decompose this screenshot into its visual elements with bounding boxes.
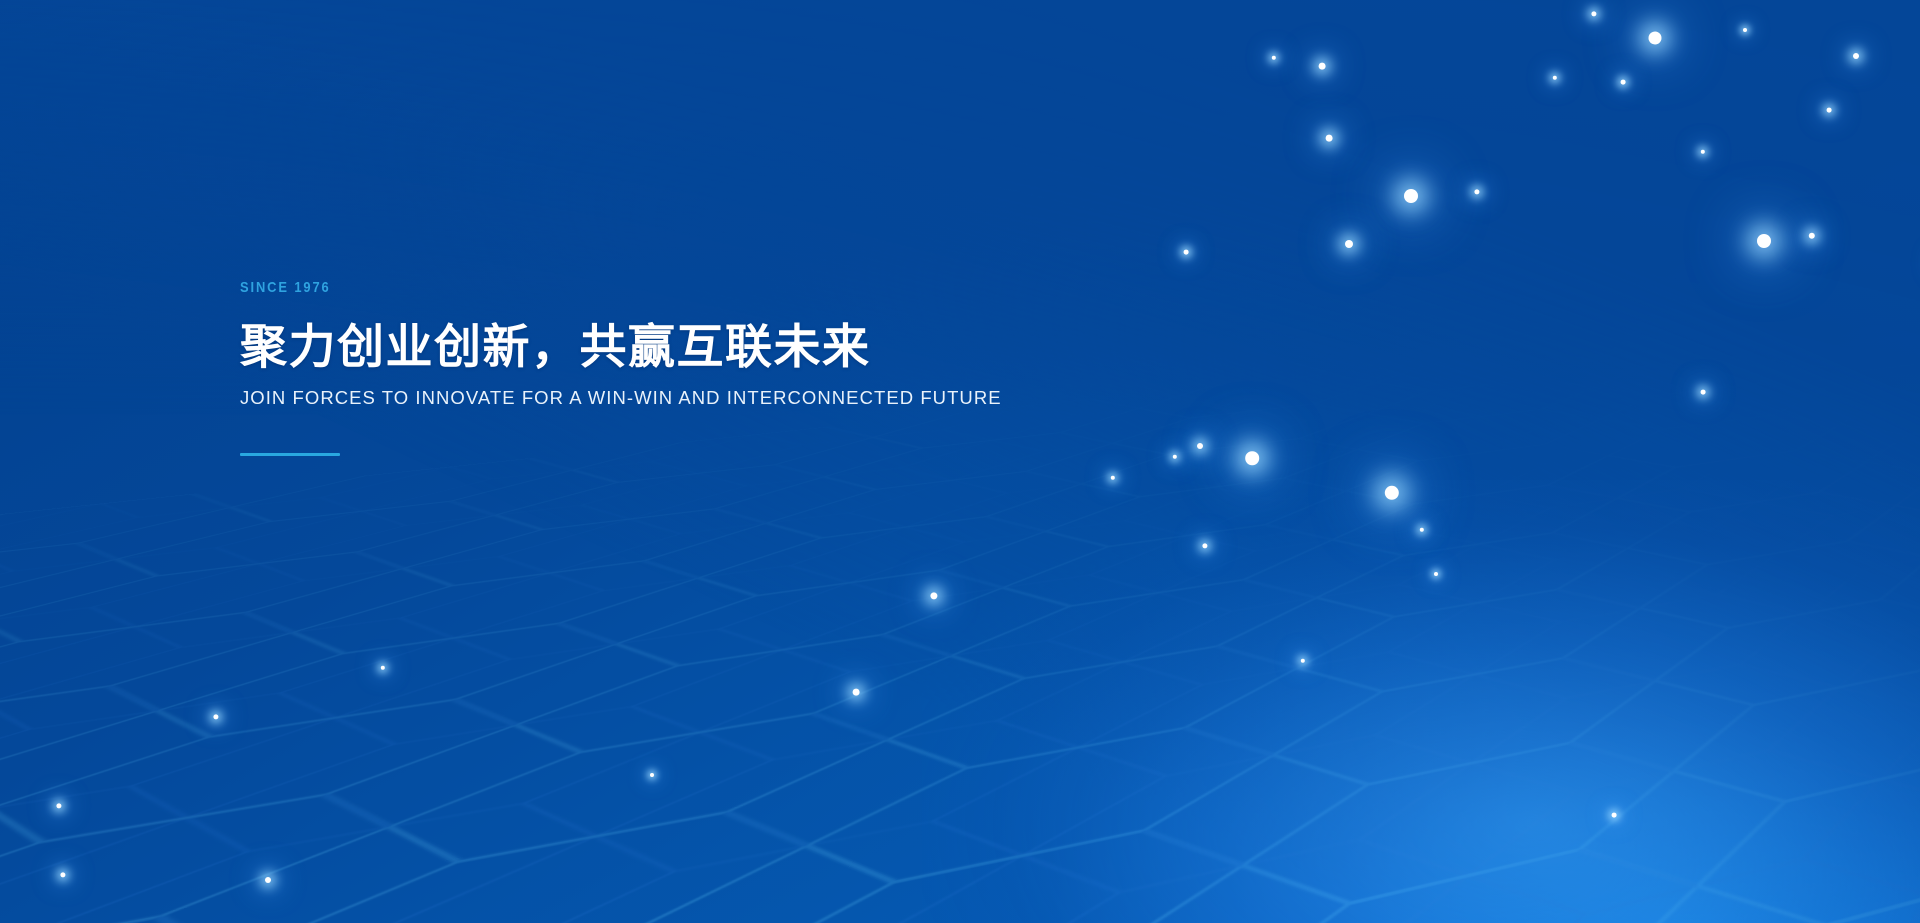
hex-mesh-background (0, 0, 1920, 923)
hero-copy-block: SINCE 1976 聚力创业创新，共赢互联未来 JOIN FORCES TO … (240, 280, 1002, 456)
accent-underline (240, 453, 340, 456)
hex-mesh-svg (0, 0, 1920, 923)
page-subtitle: JOIN FORCES TO INNOVATE FOR A WIN-WIN AN… (240, 387, 1002, 409)
page-title: 聚力创业创新，共赢互联未来 (240, 321, 1002, 373)
hero-banner: SINCE 1976 聚力创业创新，共赢互联未来 JOIN FORCES TO … (0, 0, 1920, 923)
eyebrow-since-label: SINCE 1976 (240, 280, 895, 295)
